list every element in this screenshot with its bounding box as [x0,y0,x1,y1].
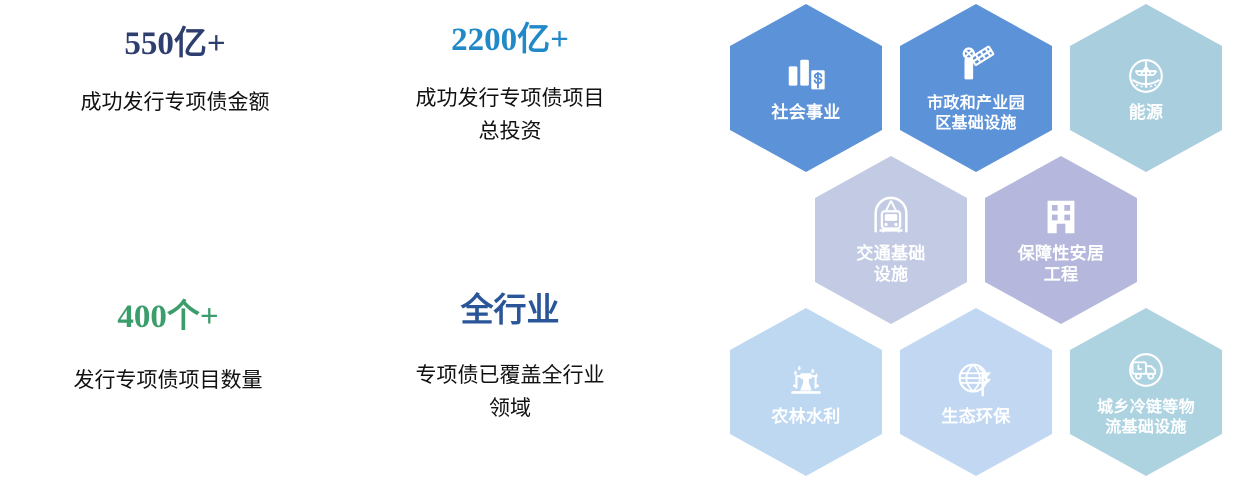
hex-tile-affordable-housing[interactable]: 保障性安居 工程 [985,156,1137,324]
hex-tile-cold-chain-logistics[interactable]: 城乡冷链等物 流基础设施 [1070,308,1222,476]
category-hexagon-grid: 社会事业 市政和产业园 区基础设施 [722,0,1243,482]
stat-value: 2200亿+ [360,20,660,60]
stat-card-industry-coverage: 全行业 专项债已覆盖全行业 领域 [360,291,660,425]
hex-tile-municipal-industrial-park[interactable]: 市政和产业园 区基础设施 [900,4,1052,172]
stat-card-project-count: 400个+ 发行专项债项目数量 [18,297,318,397]
apartment-building-icon [1038,194,1084,240]
stat-value: 550亿+ [25,24,325,64]
hex-tile-label: 社会事业 [767,103,844,124]
globe-leaf-icon [953,357,999,403]
hex-tile-label: 农林水利 [767,407,844,428]
bar-chart-dollar-icon [783,53,829,99]
hex-tile-energy[interactable]: 能源 [1070,4,1222,172]
boom-barrier-icon [953,43,999,89]
stat-card-bond-amount: 550亿+ 成功发行专项债金额 [25,24,325,119]
train-icon [868,194,914,240]
hex-tile-label: 生态环保 [937,407,1014,428]
stat-value: 全行业 [360,291,660,331]
stat-card-total-investment: 2200亿+ 成功发行专项债项目 总投资 [360,20,660,148]
hex-tile-label: 市政和产业园 区基础设施 [923,93,1029,133]
statistics-panel: 550亿+ 成功发行专项债金额 2200亿+ 成功发行专项债项目 总投资 400… [0,0,700,482]
stat-label: 成功发行专项债项目 总投资 [360,82,660,148]
hex-tile-label: 能源 [1125,103,1168,124]
delivery-truck-icon [1123,347,1169,393]
hex-tile-label: 保障性安居 工程 [1014,244,1109,286]
stat-label: 发行专项债项目数量 [18,364,318,397]
power-tower-icon [1123,53,1169,99]
hex-tile-label: 交通基础 设施 [852,244,929,286]
hex-tile-agriculture-water[interactable]: 农林水利 [730,308,882,476]
infographic-root: 550亿+ 成功发行专项债金额 2200亿+ 成功发行专项债项目 总投资 400… [0,0,1243,482]
hex-tile-ecology-environment[interactable]: 生态环保 [900,308,1052,476]
hex-tile-label: 城乡冷链等物 流基础设施 [1093,397,1199,437]
stat-label: 成功发行专项债金额 [25,86,325,119]
irrigation-sprinkler-icon [783,357,829,403]
stat-value: 400个+ [18,297,318,337]
hex-tile-social-programs[interactable]: 社会事业 [730,4,882,172]
hex-tile-transport-infrastructure[interactable]: 交通基础 设施 [815,156,967,324]
stat-label: 专项债已覆盖全行业 领域 [360,359,660,425]
